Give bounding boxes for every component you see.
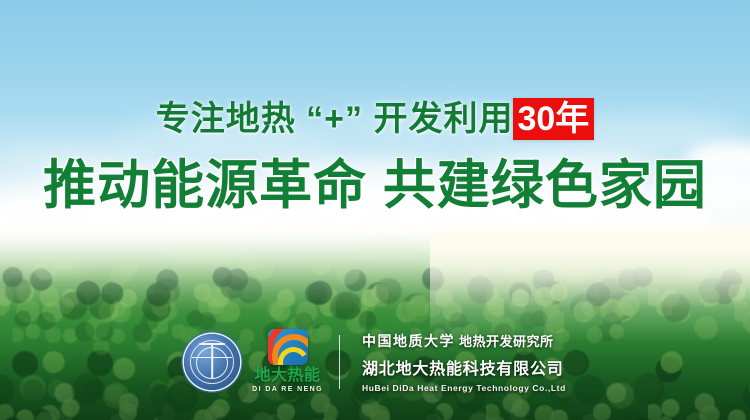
- logo-wordmark-en: DI DA RE NENG: [252, 385, 323, 394]
- institute-name: 地热开发研究所: [459, 331, 554, 350]
- company-logo: 地大热能 DI DA RE NENG: [252, 329, 323, 394]
- headline-block: 专注地热 “+” 开发利用30年 推动能源革命 共建绿色家园: [0, 96, 750, 217]
- company-name-cn: 湖北地大热能科技有限公司: [362, 355, 566, 379]
- dida-rainbow-icon: [268, 329, 308, 365]
- headline-line-1: 专注地热 “+” 开发利用30年: [0, 96, 750, 142]
- company-affiliation-row: 中国地质大学 地热开发研究所: [362, 331, 566, 351]
- company-name-block: 中国地质大学 地热开发研究所 湖北地大热能科技有限公司 HuBei DiDa H…: [362, 331, 566, 393]
- headline-line-1-text: 专注地热 “+” 开发利用: [156, 96, 514, 142]
- university-name: 中国地质大学: [362, 331, 455, 351]
- company-name-en: HuBei DiDa Heat Energy Technology Co.,Lt…: [362, 383, 566, 393]
- promo-banner: 专注地热 “+” 开发利用30年 推动能源革命 共建绿色家园 地大热能 DI D…: [0, 0, 750, 420]
- vertical-divider: [339, 335, 340, 389]
- globe-icon: [196, 347, 228, 379]
- footer-logo-bar: 地大热能 DI DA RE NENG 中国地质大学 地热开发研究所 湖北地大热能…: [0, 329, 750, 394]
- logo-wordmark-cn: 地大热能: [255, 367, 321, 385]
- anniversary-badge: 30年: [513, 98, 594, 140]
- university-seal-icon: [184, 334, 240, 390]
- headline-line-2: 推动能源革命 共建绿色家园: [0, 155, 750, 217]
